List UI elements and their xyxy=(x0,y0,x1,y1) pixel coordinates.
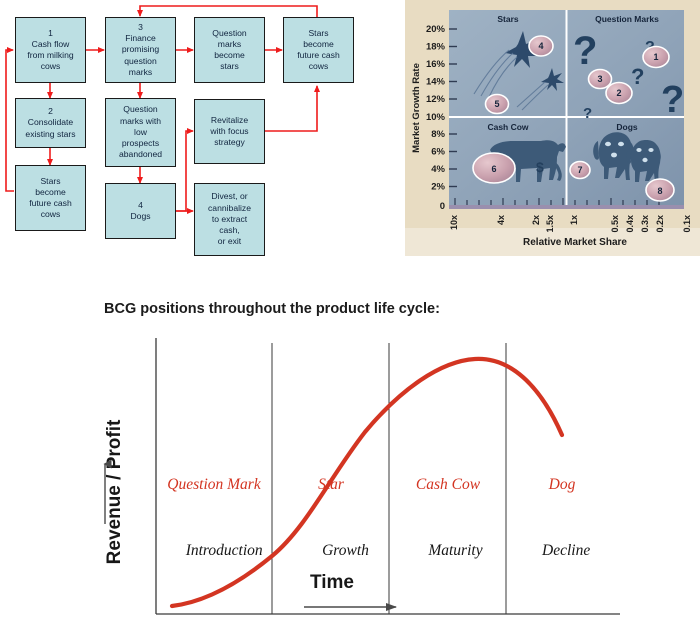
lifecycle-figure: Revenue / Profit Question Mark Star Cash… xyxy=(0,262,700,631)
y-tick-14: 14% xyxy=(426,77,446,88)
stage-label-question-mark: Question Mark xyxy=(167,476,262,493)
x-axis-title: Relative Market Share xyxy=(523,237,627,248)
bubble-label-1: 1 xyxy=(653,52,658,62)
stage-label-star: Star xyxy=(318,476,345,493)
x-tick-0-4x: 0.4x xyxy=(625,215,635,233)
dollar-sign-icon: $ xyxy=(536,159,544,175)
flow-box-question-marks-low-prospects[interactable]: Question marks with low prospects abando… xyxy=(105,98,176,167)
y-tick-16: 16% xyxy=(426,59,446,70)
bcg-matrix-figure: 20% 18% 16% 14% 12% 10% 8% 6% 4% 2% 0 Ma… xyxy=(405,0,700,256)
y-axis-title: Market Growth Rate xyxy=(411,63,422,153)
flow-box-stars-future-cash-cows-right[interactable]: Stars become future cash cows xyxy=(283,17,354,83)
x-tick-0-1x: 0.1x xyxy=(682,215,692,233)
y-tick-12: 12% xyxy=(426,94,446,105)
flow-box-finance-promising-question-marks[interactable]: 3 Finance promising question marks xyxy=(105,17,176,83)
y-axis-title: Revenue / Profit xyxy=(104,419,125,564)
quadrant-title-stars: Stars xyxy=(497,14,519,24)
y-tick-0: 0 xyxy=(440,201,445,212)
x-tick-1x: 1x xyxy=(569,215,579,225)
quadrant-title-dogs: Dogs xyxy=(616,122,638,132)
bcg-matrix-image: 20% 18% 16% 14% 12% 10% 8% 6% 4% 2% 0 Ma… xyxy=(405,0,700,256)
svg-text:?: ? xyxy=(573,29,597,73)
svg-text:?: ? xyxy=(583,105,592,122)
arrow-feedback-stars-left-to-cashflow xyxy=(6,50,14,191)
arrow-revitalize-to-stars-right xyxy=(265,86,317,131)
bubble-label-4: 4 xyxy=(538,41,543,51)
bcg-strategy-flowchart: 1 Cash flow from milking cows 2 Consolid… xyxy=(0,0,395,262)
stage-label-dog: Dog xyxy=(548,476,576,493)
y-tick-4: 4% xyxy=(431,164,445,175)
bubble-label-5: 5 xyxy=(494,99,499,109)
y-tick-10: 10% xyxy=(426,112,446,123)
x-tick-1-5x: 1.5x xyxy=(545,215,555,233)
y-tick-8: 8% xyxy=(431,129,445,140)
quadrant-title-question-marks: Question Marks xyxy=(595,14,659,24)
quadrant-title-cash-cow: Cash Cow xyxy=(487,122,528,132)
bubble-label-6: 6 xyxy=(491,164,496,174)
y-tick-18: 18% xyxy=(426,42,446,53)
bubble-label-7: 7 xyxy=(577,165,582,175)
arrow-dogs-to-revitalize xyxy=(176,131,193,211)
x-tick-2x: 2x xyxy=(531,215,541,225)
x-tick-0-3x: 0.3x xyxy=(640,215,650,233)
flow-box-dogs[interactable]: 4 Dogs xyxy=(105,183,176,239)
y-tick-20: 20% xyxy=(426,24,446,35)
x-tick-10x: 10x xyxy=(449,215,459,230)
flow-box-question-marks-become-stars[interactable]: Question marks become stars xyxy=(194,17,265,83)
bubble-label-2: 2 xyxy=(616,88,621,98)
x-tick-0-2x: 0.2x xyxy=(655,215,665,233)
svg-text:?: ? xyxy=(631,64,644,89)
svg-text:?: ? xyxy=(661,79,684,121)
bubble-label-8: 8 xyxy=(657,186,662,196)
bubble-label-3: 3 xyxy=(597,74,602,84)
x-tick-4x: 4x xyxy=(496,215,506,225)
product-life-cycle-chart: BCG positions throughout the product lif… xyxy=(0,262,700,631)
y-tick-2: 2% xyxy=(431,182,445,193)
x-tick-0-5x: 0.5x xyxy=(610,215,620,233)
flow-box-divest-cannibalize[interactable]: Divest, or cannibalize to extract cash, … xyxy=(194,183,265,256)
flow-box-stars-future-cash-cows-left[interactable]: Stars become future cash cows xyxy=(15,165,86,231)
arrow-feedback-stars-to-finance xyxy=(140,6,317,17)
stage-label-cash-cow: Cash Cow xyxy=(416,476,481,493)
y-tick-6: 6% xyxy=(431,147,445,158)
flow-box-cash-flow-milking-cows[interactable]: 1 Cash flow from milking cows xyxy=(15,17,86,83)
flow-box-revitalize-with-focus-strategy[interactable]: Revitalize with focus strategy xyxy=(194,99,265,164)
x-axis-bar xyxy=(449,205,684,209)
flow-box-consolidate-existing-stars[interactable]: 2 Consolidate existing stars xyxy=(15,98,86,148)
